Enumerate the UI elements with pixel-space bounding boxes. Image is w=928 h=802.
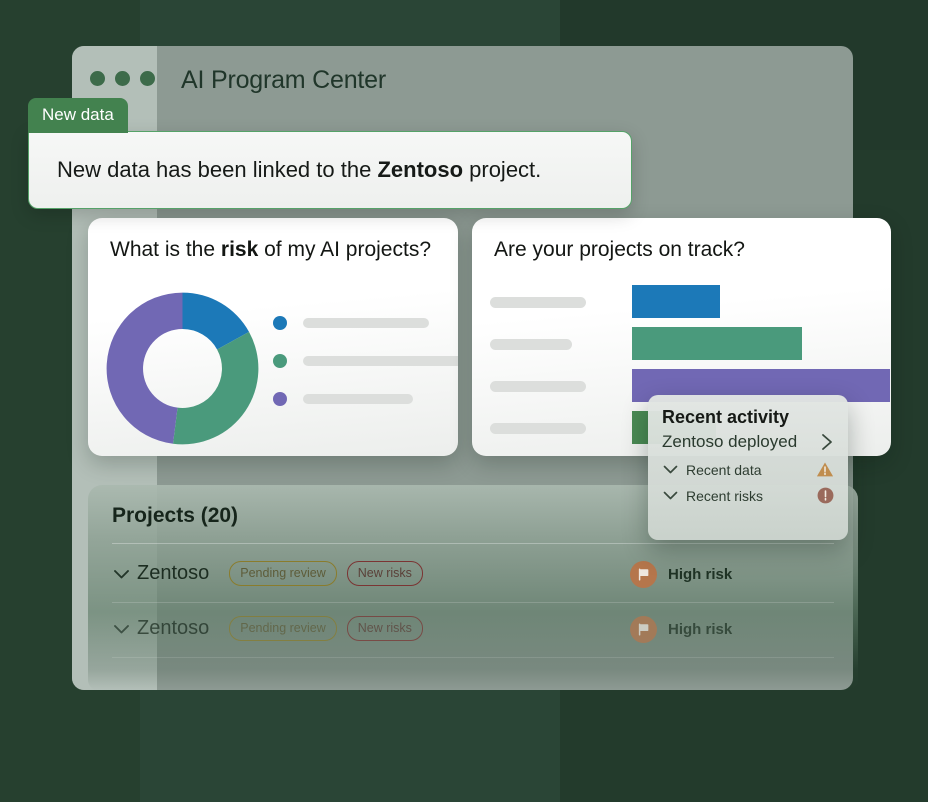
project-badges: Pending reviewNew risks [229, 561, 423, 586]
screenshot-canvas: AI Program Center What is the risk of my… [0, 0, 928, 802]
bar-fill[interactable] [632, 327, 802, 360]
project-name[interactable]: Zentoso [137, 562, 209, 585]
risk-label: High risk [668, 566, 732, 583]
table-row[interactable]: ZentosoPending reviewNew risksHigh risk [88, 547, 858, 603]
status-badge[interactable]: Pending review [229, 561, 336, 586]
donut-slice[interactable] [173, 332, 258, 444]
chevron-down-icon[interactable] [662, 463, 679, 476]
projects-divider [112, 543, 834, 544]
status-badge[interactable]: Pending review [229, 616, 336, 641]
status-badge[interactable]: New risks [347, 561, 423, 586]
status-badge[interactable]: New risks [347, 616, 423, 641]
legend-label-placeholder [303, 318, 429, 328]
recent-activity-popover: Recent activity Zentoso deployed Recent … [648, 395, 848, 540]
bar-row[interactable] [490, 282, 891, 324]
flag-icon [636, 567, 651, 582]
recent-activity-primary-label: Zentoso deployed [662, 432, 797, 452]
notification-toast: New data New data has been linked to the… [28, 98, 632, 211]
page-title: AI Program Center [181, 66, 386, 95]
card-track-title: Are your projects on track? [494, 238, 745, 262]
window-controls[interactable] [90, 71, 155, 86]
project-row-right: High risk [630, 561, 732, 588]
recent-activity-items: Recent dataRecent risks [662, 461, 834, 504]
donut-chart[interactable] [100, 286, 265, 451]
risk-label: High risk [668, 621, 732, 638]
risk-indicator [630, 616, 657, 643]
recent-activity-title: Recent activity [662, 407, 834, 428]
project-row-left: ZentosoPending reviewNew risks [112, 561, 423, 586]
toast-card[interactable]: New data has been linked to the Zentoso … [28, 131, 632, 209]
close-dot-icon[interactable] [90, 71, 105, 86]
project-row-left: ZentosoPending reviewNew risks [112, 616, 423, 641]
minimize-dot-icon[interactable] [115, 71, 130, 86]
bar-category-placeholder [490, 423, 586, 434]
bar-fill[interactable] [632, 285, 720, 318]
risk-indicator [630, 561, 657, 588]
project-row-right: High risk [630, 616, 732, 643]
row-divider [112, 657, 834, 658]
legend-color-dot-icon [273, 392, 287, 406]
error-circle-icon [817, 487, 834, 504]
flag-icon [636, 622, 651, 637]
bar-category-placeholder [490, 297, 586, 308]
projects-title: Projects (20) [112, 504, 238, 528]
project-badges: Pending reviewNew risks [229, 616, 423, 641]
table-row[interactable]: ZentosoPending reviewNew risksHigh risk [88, 602, 858, 658]
legend-color-dot-icon [273, 316, 287, 330]
donut-slice[interactable] [107, 293, 183, 444]
recent-activity-item[interactable]: Recent risks [662, 487, 834, 504]
chevron-down-icon[interactable] [112, 622, 131, 636]
project-name[interactable]: Zentoso [137, 617, 209, 640]
recent-activity-item[interactable]: Recent data [662, 461, 834, 478]
toast-message-suffix: project. [463, 157, 541, 182]
recent-activity-primary-item[interactable]: Zentoso deployed [662, 432, 834, 452]
toast-badge: New data [28, 98, 128, 133]
card-risk-title-prefix: What is the [110, 238, 221, 261]
toast-message-project: Zentoso [377, 157, 463, 182]
legend-row[interactable] [273, 392, 458, 406]
legend-row[interactable] [273, 354, 458, 368]
toast-message-prefix: New data has been linked to the [57, 157, 377, 182]
legend-label-placeholder [303, 394, 413, 404]
bar-category-placeholder [490, 339, 572, 350]
chevron-right-icon[interactable] [821, 432, 834, 452]
maximize-dot-icon[interactable] [140, 71, 155, 86]
card-risk-title-emphasis: risk [221, 238, 258, 261]
card-risk-overview: What is the risk of my AI projects? [88, 218, 458, 456]
donut-chart-svg [100, 286, 265, 451]
legend-row[interactable] [273, 316, 458, 330]
toast-message: New data has been linked to the Zentoso … [57, 156, 541, 184]
recent-activity-item-label: Recent data [686, 462, 809, 478]
bar-category-placeholder [490, 381, 586, 392]
warning-triangle-icon [816, 461, 834, 478]
recent-activity-item-label: Recent risks [686, 488, 810, 504]
chevron-down-icon[interactable] [112, 567, 131, 581]
legend-label-placeholder [303, 356, 458, 366]
card-risk-title-suffix: of my AI projects? [258, 238, 431, 261]
legend-color-dot-icon [273, 354, 287, 368]
chevron-down-icon[interactable] [662, 489, 679, 502]
card-risk-title: What is the risk of my AI projects? [110, 238, 431, 262]
bar-row[interactable] [490, 324, 891, 366]
donut-legend [273, 316, 458, 406]
